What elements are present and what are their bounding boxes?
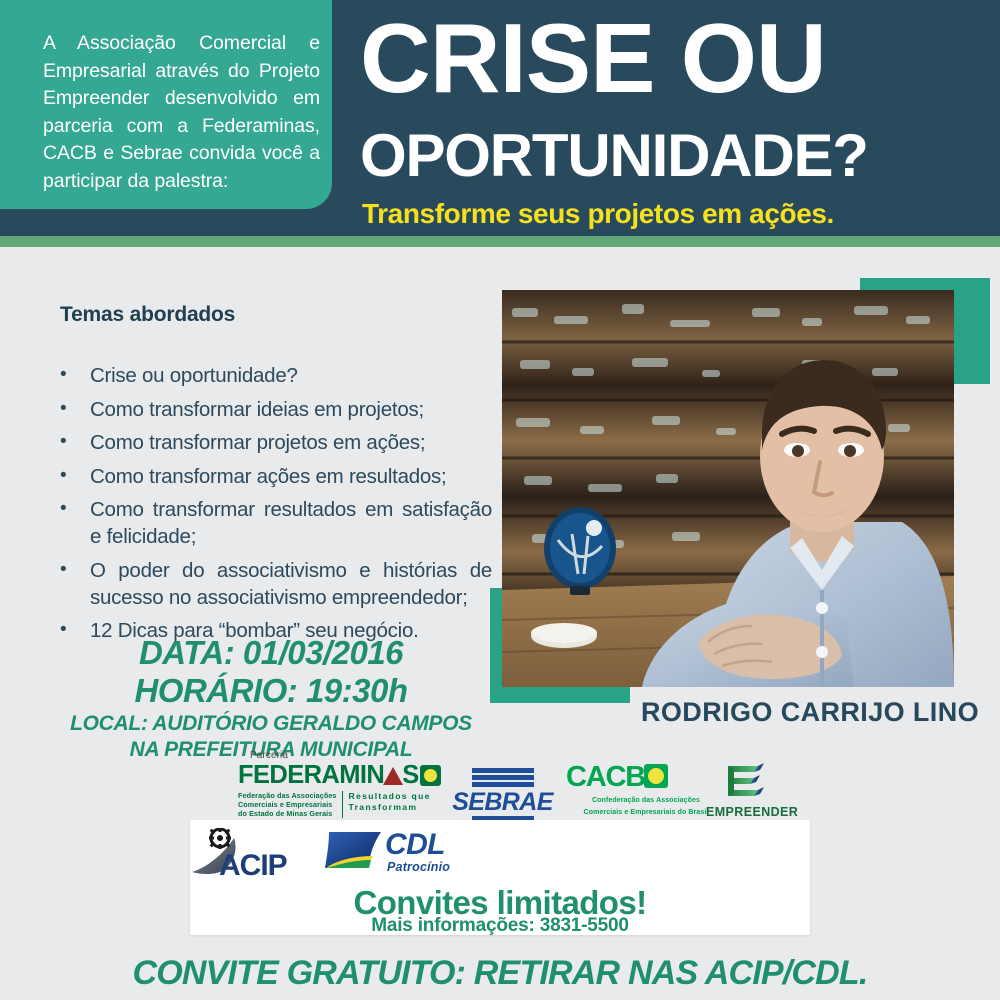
event-info: DATA: 01/03/2016 HORÁRIO: 19:30h LOCAL: … bbox=[46, 634, 496, 762]
empreender-logo: EMPREENDER bbox=[706, 762, 786, 819]
federaminas-sub-left-l2: Comerciais e Empresariais bbox=[238, 800, 337, 809]
partners-label: Parceria bbox=[250, 750, 288, 761]
speaker-photo-frame bbox=[490, 278, 990, 703]
list-item: Como transformar ações em resultados; bbox=[52, 463, 492, 490]
intro-box: A Associação Comercial e Empresarial atr… bbox=[0, 0, 332, 209]
sponsor-logos-row: ACIP CDL Patrocínio bbox=[190, 826, 480, 882]
cacb-wordmark: CACB bbox=[566, 762, 726, 793]
acip-logo: ACIP bbox=[190, 828, 320, 880]
cdl-wordmark: CDL bbox=[385, 829, 445, 861]
speaker-photo bbox=[502, 290, 954, 687]
poster-title-line2: OPORTUNIDADE? bbox=[360, 122, 868, 190]
empreender-wordmark: EMPREENDER bbox=[706, 805, 786, 819]
cdl-sub-label: Patrocínio bbox=[387, 860, 450, 874]
list-item: Crise ou oportunidade? bbox=[52, 362, 492, 389]
mais-informacoes-text: Mais informações: 3831-5500 bbox=[190, 915, 810, 937]
list-item: Como transformar resultados em satisfaçã… bbox=[52, 496, 492, 550]
poster-header: A Associação Comercial e Empresarial atr… bbox=[0, 0, 1000, 236]
federaminas-sub-right-l1: Resultados que bbox=[349, 791, 431, 802]
speaker-name: RODRIGO CARRIJO LINO bbox=[641, 697, 979, 728]
event-location-line1: LOCAL: AUDITÓRIO GERALDO CAMPOS bbox=[46, 712, 496, 736]
list-item: O poder do associativismo e histórias de… bbox=[52, 557, 492, 611]
event-date: DATA: 01/03/2016 bbox=[46, 634, 496, 672]
topics-list: Crise ou oportunidade? Como transformar … bbox=[52, 362, 492, 651]
cdl-logo: CDL Patrocínio bbox=[323, 826, 483, 882]
list-item: Como transformar ideias em projetos; bbox=[52, 396, 492, 423]
federaminas-sub-right-l2: Transformam bbox=[349, 802, 431, 813]
federaminas-logo: FEDERAMINS Federação das Associações Com… bbox=[238, 762, 428, 818]
cacb-swirl-icon bbox=[644, 764, 668, 788]
topics-heading: Temas abordados bbox=[60, 303, 235, 327]
poster-footer: CONVITE GRATUITO: RETIRAR NAS ACIP/CDL. bbox=[0, 950, 1000, 1000]
federaminas-subtitle: Federação das Associações Comerciais e E… bbox=[238, 791, 428, 818]
federaminas-sub-left-l1: Federação das Associações bbox=[238, 791, 337, 800]
partner-logos-row: FEDERAMINS Federação das Associações Com… bbox=[238, 762, 783, 818]
title-block: CRISE OU OPORTUNIDADE? Transforme seus p… bbox=[352, 0, 1000, 236]
federaminas-sub-right: Resultados que Transformam bbox=[343, 791, 431, 818]
federaminas-sub-left-l3: do Estado de Minas Gerais bbox=[238, 809, 337, 818]
intro-text: A Associação Comercial e Empresarial atr… bbox=[43, 30, 320, 195]
cacb-sub-l1: Confederação das Associações bbox=[566, 796, 726, 805]
poster-title-line1: CRISE OU bbox=[360, 2, 826, 114]
footer-text: CONVITE GRATUITO: RETIRAR NAS ACIP/CDL. bbox=[0, 950, 1000, 996]
federaminas-triangle-icon bbox=[383, 767, 403, 785]
acip-wordmark: ACIP bbox=[219, 850, 287, 882]
sebrae-wordmark: SEBRAE bbox=[450, 789, 555, 816]
federaminas-wordmark: FEDERAMINS bbox=[238, 762, 428, 789]
federaminas-swirl-icon bbox=[420, 765, 441, 786]
event-time: HORÁRIO: 19:30h bbox=[46, 672, 496, 710]
empreender-e-icon bbox=[724, 762, 768, 802]
poster-subtitle: Transforme seus projetos em ações. bbox=[362, 198, 834, 230]
sebrae-bars-top-icon bbox=[472, 768, 534, 787]
cacb-sub-l2: Comerciais e Empresariais do Brasil bbox=[566, 808, 726, 817]
cacb-logo: CACB Confederação das Associações Comerc… bbox=[566, 762, 726, 817]
federaminas-sub-left: Federação das Associações Comerciais e E… bbox=[238, 791, 343, 818]
list-item: Como transformar projetos em ações; bbox=[52, 429, 492, 456]
header-divider bbox=[0, 236, 1000, 247]
